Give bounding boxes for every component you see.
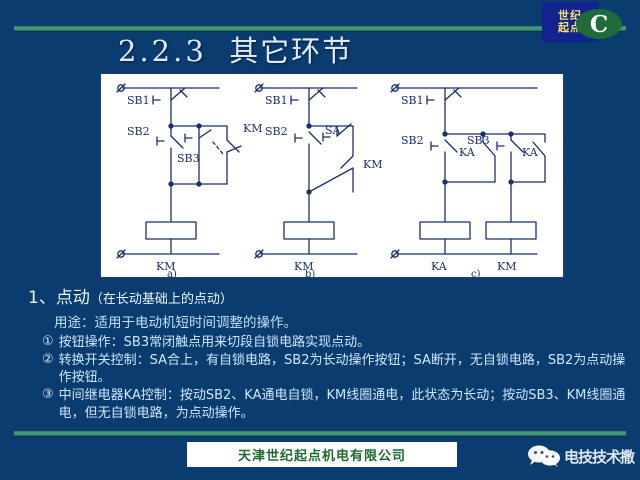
label-c-ka1: KA [459,146,476,159]
list-item: ① 按钮操作：SB3常闭触点用来切段自锁电路实现点动。 [42,334,626,351]
section-heading: 1、点动（在长动基础上的点动） [28,283,626,308]
section-heading-paren: （在长动基础上的点动） [90,292,233,307]
slide-root: 世纪 起点 C 2.2.3 其它环节 [0,0,640,480]
watermark: 电技技术撒 [527,445,634,467]
label-c-sb3: SB3 [467,134,490,147]
caption-b: b) [305,269,315,277]
circuit-figure-panel: SB1 SB2 SB3 KM KM a) SB1 SB2 SA KM KM b)… [100,73,564,278]
label-c-sb1: SB1 [401,94,424,107]
label-c-ka2: KA [522,146,539,159]
circuit-diagram-svg: SB1 SB2 SB3 KM KM a) SB1 SB2 SA KM KM b)… [101,74,563,277]
slide-title-number: 2.2.3 [118,34,207,68]
label-c-coil-km: KM [497,260,516,273]
footer-company-name: 天津世纪起点机电有限公司 [238,445,406,464]
list-item-text: 按钮操作：SB3常闭触点用来切段自锁电路实现点动。 [59,334,626,351]
circuit-labels: SB1 SB2 SB3 KM KM a) SB1 SB2 SA KM KM b)… [127,94,539,277]
label-a-km-contact: KM [243,122,262,135]
caption-a: a) [167,269,177,277]
label-b-sa: SA [325,124,342,137]
list-item: ③ 中间继电器KA控制：按动SB2、KA通电自锁，KM线圈通电，此状态为长动；按… [42,387,626,421]
footer-company-bar: 天津世纪起点机电有限公司 [186,441,458,468]
label-a-sb1: SB1 [127,94,150,107]
purpose-line: 用途：适用于电动机短时间调整的操作。 [54,311,626,331]
section-heading-number: 1、 [28,288,56,308]
label-b-sb1: SB1 [265,94,288,107]
caption-c: c) [471,269,481,277]
slide-title-text: 其它环节 [229,34,353,68]
label-b-km-contact: KM [363,158,382,171]
label-a-sb2: SB2 [127,125,150,138]
label-a-sb3: SB3 [177,152,200,165]
list-item: ② 转换开关控制：SA合上，有自锁电路，SB2为长动操作按钮；SA断开，无自锁电… [42,352,626,386]
list-marker: ③ [42,387,54,402]
logo-badge-letter: C [590,13,608,36]
label-b-sb2: SB2 [265,125,288,138]
list-marker: ② [42,352,54,367]
watermark-text: 电技技术撒 [564,446,634,467]
section-heading-text: 点动 [56,288,90,308]
list-marker: ① [42,334,54,349]
label-c-sb2: SB2 [401,134,424,147]
body-content: 1、点动（在长动基础上的点动） 用途：适用于电动机短时间调整的操作。 ① 按钮操… [28,283,626,423]
slide-title: 2.2.3 其它环节 [118,28,353,70]
label-c-coil-ka: KA [431,260,448,273]
list-item-text: 中间继电器KA控制：按动SB2、KA通电自锁，KM线圈通电，此状态为长动；按动S… [59,387,626,421]
bottom-divider-rule [14,431,626,436]
logo-badge-ellipse: C [576,9,622,39]
wechat-icon [527,445,561,467]
list-item-text: 转换开关控制：SA合上，有自锁电路，SB2为长动操作按钮；SA断开，无自锁电路，… [59,352,626,386]
